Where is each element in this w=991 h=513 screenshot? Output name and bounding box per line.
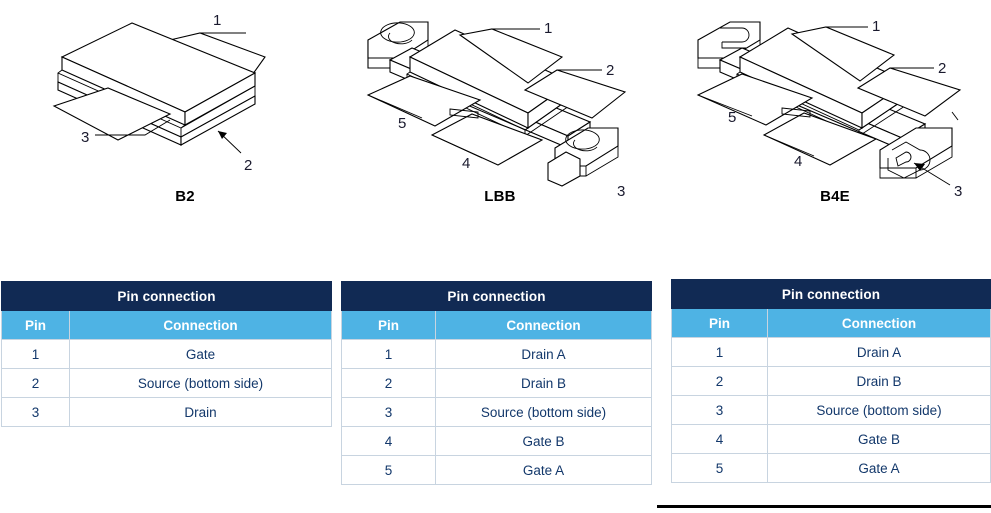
- package-diagram-lbb: 1 2 3 4 5 LBB: [350, 0, 650, 260]
- table-title-row: Pin connection: [2, 282, 332, 311]
- package-lbb-svg: 1 2 3 4 5: [350, 0, 650, 215]
- table-row: 4 Gate B: [342, 427, 652, 456]
- callout-lbb-1: 1: [544, 20, 552, 37]
- cell-connection: Drain A: [436, 340, 652, 369]
- package-name-lbb: LBB: [350, 188, 650, 205]
- column-header-pin: Pin: [342, 311, 436, 340]
- table-row: 2 Drain B: [342, 369, 652, 398]
- cell-connection: Drain B: [436, 369, 652, 398]
- column-header-connection: Connection: [70, 311, 332, 340]
- column-header-pin: Pin: [2, 311, 70, 340]
- package-drawings: 1 2 3 B2: [0, 0, 991, 262]
- cell-connection: Source (bottom side): [436, 398, 652, 427]
- table-row: 1 Drain A: [342, 340, 652, 369]
- callout-b2-2: 2: [244, 157, 252, 174]
- callout-b2-1: 1: [213, 12, 221, 29]
- cell-connection: Gate: [70, 340, 332, 369]
- cell-pin: 5: [342, 456, 436, 485]
- table-row: 1 Gate: [2, 340, 332, 369]
- table-header-row: Pin Connection: [2, 311, 332, 340]
- pin-connection-table-lbb: Pin connection Pin Connection 1 Drain A …: [341, 281, 652, 485]
- cell-connection: Gate B: [768, 425, 991, 454]
- table-row: 5 Gate A: [672, 454, 991, 483]
- table-row: 2 Drain B: [672, 367, 991, 396]
- callout-lbb-5: 5: [398, 115, 406, 132]
- package-b2-svg: 1 2 3: [50, 0, 320, 215]
- table-header-row: Pin Connection: [672, 309, 991, 338]
- cell-connection: Gate A: [436, 456, 652, 485]
- callout-b4e-2: 2: [938, 60, 946, 77]
- table-title-row: Pin connection: [342, 282, 652, 311]
- cell-pin: 3: [342, 398, 436, 427]
- cell-connection: Drain: [70, 398, 332, 427]
- package-diagram-b4e: 1 2 3 4 5 B4E: [680, 0, 990, 260]
- table-row: 2 Source (bottom side): [2, 369, 332, 398]
- cell-connection: Drain B: [768, 367, 991, 396]
- cell-pin: 3: [2, 398, 70, 427]
- callout-b4e-1: 1: [872, 18, 880, 35]
- package-diagram-b2: 1 2 3 B2: [50, 0, 320, 260]
- table-row: 4 Gate B: [672, 425, 991, 454]
- cell-connection: Gate A: [768, 454, 991, 483]
- footer-rule: [657, 505, 991, 508]
- pin-connection-table-b2: Pin connection Pin Connection 1 Gate 2 S…: [1, 281, 332, 427]
- callout-b2-3: 3: [81, 129, 89, 146]
- cell-pin: 5: [672, 454, 768, 483]
- package-b4e-svg: 1 2 3 4 5: [680, 0, 990, 215]
- cell-connection: Source (bottom side): [768, 396, 991, 425]
- callout-b4e-5: 5: [728, 109, 736, 126]
- cell-pin: 4: [342, 427, 436, 456]
- callout-b4e-4: 4: [794, 153, 802, 170]
- cell-pin: 3: [672, 396, 768, 425]
- table-header-row: Pin Connection: [342, 311, 652, 340]
- table-row: 3 Source (bottom side): [672, 396, 991, 425]
- cell-pin: 4: [672, 425, 768, 454]
- pin-connection-table-b4e: Pin connection Pin Connection 1 Drain A …: [671, 279, 991, 483]
- table-row: 5 Gate A: [342, 456, 652, 485]
- table-title: Pin connection: [2, 282, 332, 311]
- cell-pin: 2: [2, 369, 70, 398]
- cell-pin: 2: [342, 369, 436, 398]
- cell-connection: Drain A: [768, 338, 991, 367]
- cell-pin: 1: [2, 340, 70, 369]
- callout-lbb-4: 4: [462, 155, 470, 172]
- package-name-b2: B2: [50, 188, 320, 205]
- cell-connection: Gate B: [436, 427, 652, 456]
- column-header-connection: Connection: [768, 309, 991, 338]
- table-row: 1 Drain A: [672, 338, 991, 367]
- table-title-row: Pin connection: [672, 280, 991, 309]
- package-name-b4e: B4E: [680, 188, 990, 205]
- column-header-pin: Pin: [672, 309, 768, 338]
- table-title: Pin connection: [672, 280, 991, 309]
- table-title: Pin connection: [342, 282, 652, 311]
- table-row: 3 Source (bottom side): [342, 398, 652, 427]
- column-header-connection: Connection: [436, 311, 652, 340]
- cell-connection: Source (bottom side): [70, 369, 332, 398]
- cell-pin: 1: [672, 338, 768, 367]
- cell-pin: 2: [672, 367, 768, 396]
- cell-pin: 1: [342, 340, 436, 369]
- callout-lbb-2: 2: [606, 62, 614, 79]
- table-row: 3 Drain: [2, 398, 332, 427]
